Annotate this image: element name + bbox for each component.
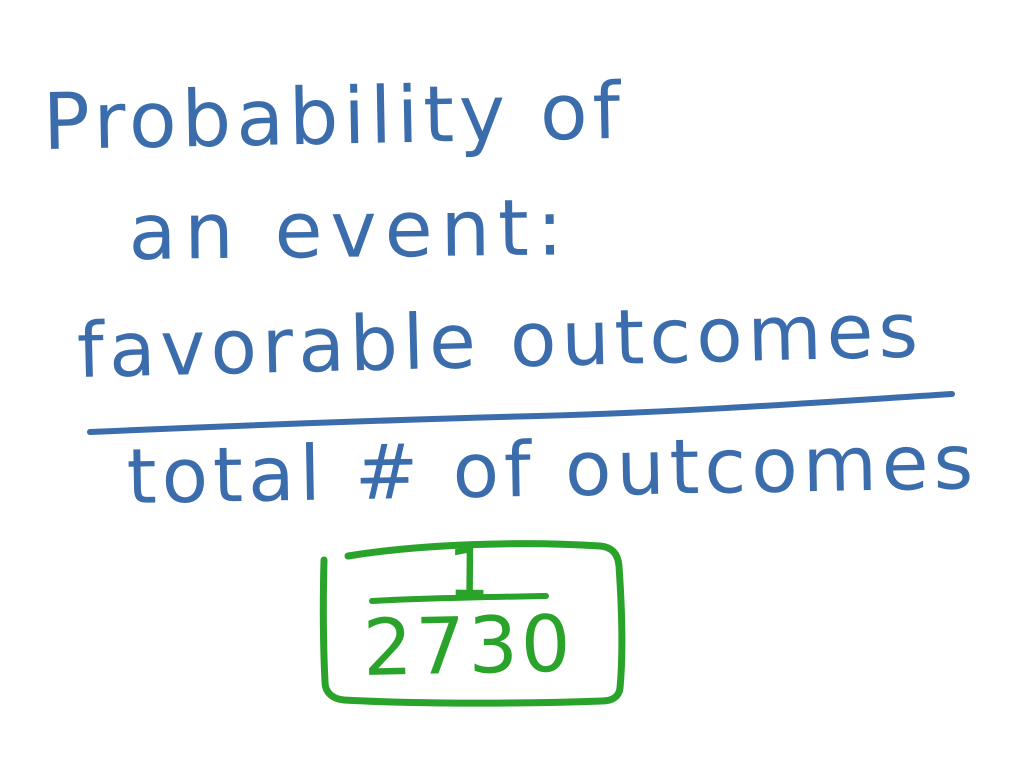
formula-denominator: total # of outcomes bbox=[126, 417, 979, 521]
whiteboard-canvas: Probability of an event: favorable outco… bbox=[0, 0, 1024, 768]
formula-numerator: favorable outcomes bbox=[76, 285, 924, 395]
title-line-2: an event: bbox=[128, 183, 571, 278]
answer-numerator: 1 bbox=[447, 540, 492, 606]
title-line-1: Probability of bbox=[42, 67, 626, 168]
answer-denominator: 2730 bbox=[362, 600, 574, 694]
